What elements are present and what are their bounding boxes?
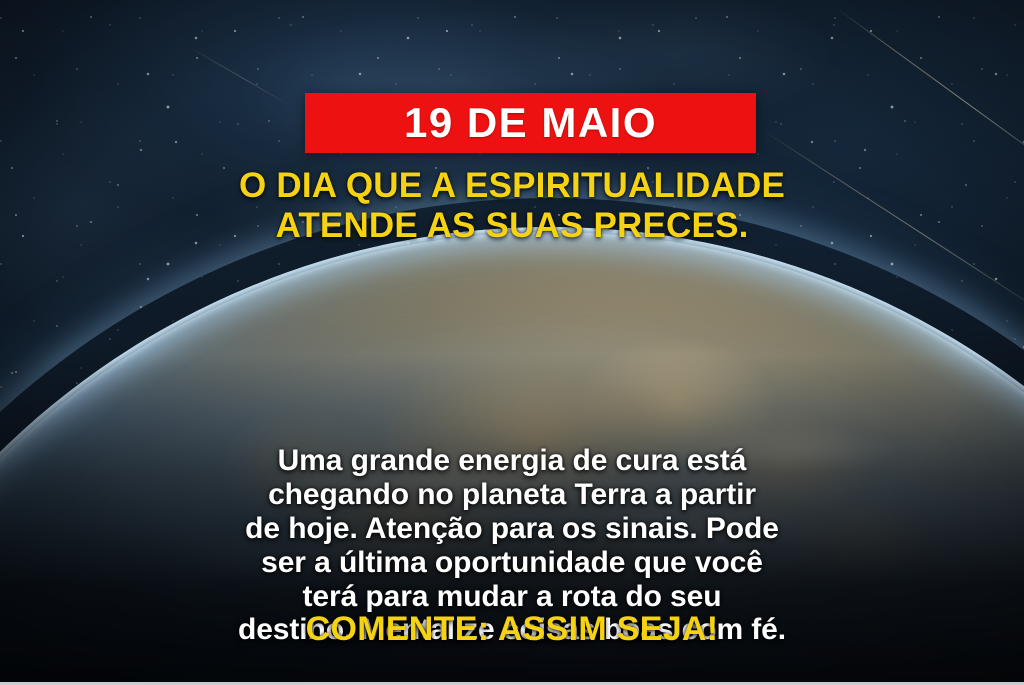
call-to-action-label: COMENTE: ASSIM SEJA! xyxy=(306,610,719,648)
body-copy-line-2: chegando no planeta Terra a partir xyxy=(48,478,976,512)
headline-line-2: ATENDE AS SUAS PRECES. xyxy=(40,206,984,246)
headline-line-1: O DIA QUE A ESPIRITUALIDADE xyxy=(40,166,984,206)
body-copy-line-4: ser a última oportunidade que você xyxy=(48,546,976,580)
body-copy-line-5: terá para mudar a rota do seu xyxy=(48,580,976,614)
call-to-action: COMENTE: ASSIM SEJA! xyxy=(0,612,1024,646)
poster-content: 19 DE MAIO O DIA QUE A ESPIRITUALIDADE A… xyxy=(0,0,1024,685)
date-banner: 19 DE MAIO xyxy=(305,93,756,153)
date-banner-label: 19 DE MAIO xyxy=(404,102,657,144)
headline: O DIA QUE A ESPIRITUALIDADE ATENDE AS SU… xyxy=(0,166,1024,246)
body-copy-line-1: Uma grande energia de cura está xyxy=(48,444,976,478)
body-copy-line-3: de hoje. Atenção para os sinais. Pode xyxy=(48,512,976,546)
poster-canvas: 19 DE MAIO O DIA QUE A ESPIRITUALIDADE A… xyxy=(0,0,1024,685)
